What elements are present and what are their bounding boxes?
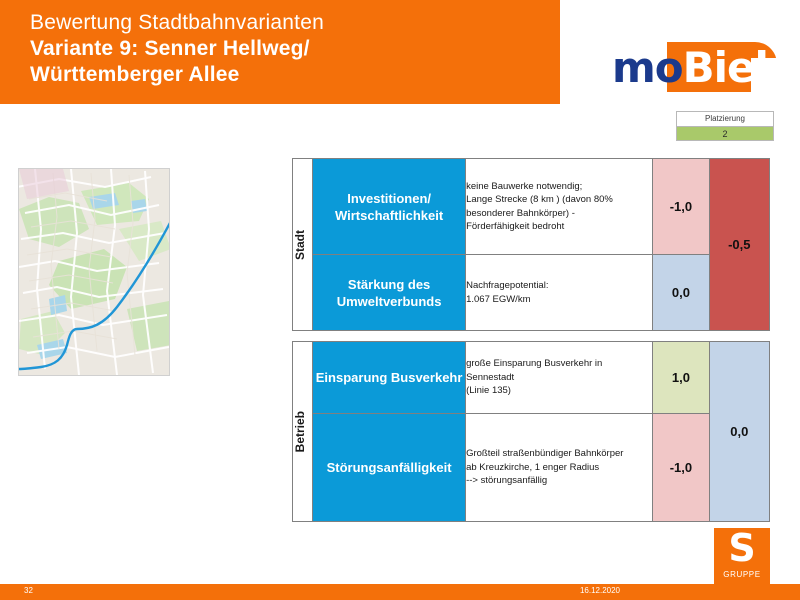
slide-title-line-2: Variante 9: Senner Hellweg/ [30,36,560,62]
sgruppe-logo-text: GRUPPE [714,570,770,579]
mobiel-wordmark-biel: Biel [683,43,768,92]
sgruppe-logo-letter: S [714,528,770,568]
map-graphic [19,169,170,376]
description-cell: große Einsparung Busverkehr in Sennestad… [466,342,653,414]
criterion-label: Stärkung des Umweltverbunds [337,277,442,309]
ranking-label: Platzierung [677,112,773,126]
score-cell: -1,0 [653,414,709,522]
criterion-cell: Einsparung Busverkehr [313,342,466,414]
description-line: Sennestadt [466,371,652,385]
description-line: ab Kreuzkirche, 1 enger Radius [466,461,652,475]
description-line: Lange Strecke (8 km ) (davon 80% [466,193,652,207]
slide-title-line-3: Württemberger Allee [30,62,560,88]
description-line: besonderer Bahnkörper) - [466,207,652,221]
criterion-label: Störungsanfälligkeit [327,460,452,475]
footer-date: 16.12.2020 [580,586,620,595]
group-label-cell-betrieb: Betrieb [293,342,313,522]
evaluation-table-betrieb: Betrieb Einsparung Busverkehr große Eins… [292,341,770,522]
table-row: Stadt Investitionen/ Wirtschaftlichkeit … [293,159,770,255]
description-cell: keine Bauwerke notwendig; Lange Strecke … [466,159,653,255]
group-label-text: Stadt [293,228,307,262]
criterion-cell: Störungsanfälligkeit [313,414,466,522]
description-cell: Nachfragepotential: 1.067 EGW/km [466,255,653,331]
table-row: Stärkung des Umweltverbunds Nachfragepot… [293,255,770,331]
table-row: Betrieb Einsparung Busverkehr große Eins… [293,342,770,414]
sgruppe-logo: S GRUPPE [714,528,770,584]
description-line: --> störungsanfällig [466,474,652,488]
footer-bar: 32 16.12.2020 [0,584,800,600]
score-cell: 0,0 [653,255,709,331]
criterion-label: Einsparung Busverkehr [316,370,463,385]
ranking-box: Platzierung 2 [676,111,774,141]
table-row: Störungsanfälligkeit Großteil straßenbün… [293,414,770,522]
ranking-value: 2 [677,126,773,140]
criterion-cell: Stärkung des Umweltverbunds [313,255,466,331]
group-total-cell: -0,5 [709,159,769,331]
title-banner: Bewertung Stadtbahnvarianten Variante 9:… [0,0,560,104]
route-map-image [18,168,170,376]
mobiel-wordmark: moBiel [612,44,768,92]
description-line: Großteil straßenbündiger Bahnkörper [466,447,652,461]
description-line: Förderfähigkeit bedroht [466,220,652,234]
criterion-label: Investitionen/ Wirtschaftlichkeit [335,191,443,223]
group-total-cell: 0,0 [709,342,769,522]
description-cell: Großteil straßenbündiger Bahnkörper ab K… [466,414,653,522]
score-cell: -1,0 [653,159,709,255]
evaluation-table-stadt: Stadt Investitionen/ Wirtschaftlichkeit … [292,158,770,331]
footer-page-number: 32 [24,586,33,595]
description-line: 1.067 EGW/km [466,293,652,307]
description-line: (Linie 135) [466,384,652,398]
slide-title-line-1: Bewertung Stadtbahnvarianten [30,10,560,36]
description-line: große Einsparung Busverkehr in [466,357,652,371]
criterion-cell: Investitionen/ Wirtschaftlichkeit [313,159,466,255]
score-cell: 1,0 [653,342,709,414]
description-line: keine Bauwerke notwendig; [466,180,652,194]
mobiel-logo: moBiel [612,42,777,104]
mobiel-wordmark-mo: mo [612,43,683,92]
description-line: Nachfragepotential: [466,279,652,293]
group-label-text: Betrieb [293,409,307,454]
group-label-cell-stadt: Stadt [293,159,313,331]
